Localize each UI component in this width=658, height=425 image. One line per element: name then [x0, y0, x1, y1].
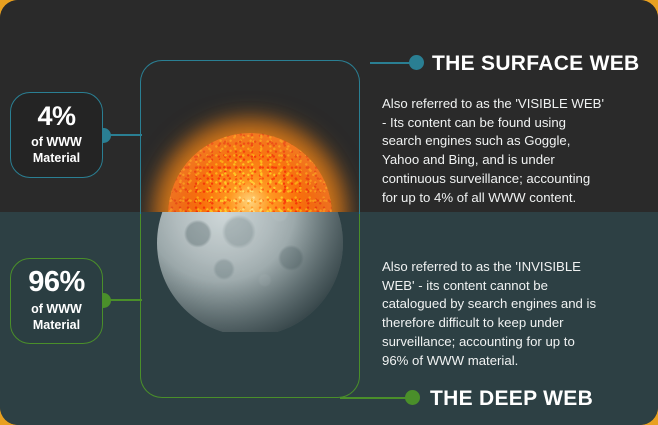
moon-shading	[157, 212, 343, 332]
deep-web-percentage-badge: 96% of WWW Material	[10, 258, 103, 344]
surface-web-heading: THE SURFACE WEB	[432, 52, 640, 76]
surface-badge-line2: Material	[33, 151, 80, 165]
surface-web-percentage-badge: 4% of WWW Material	[10, 92, 103, 178]
deep-web-heading: THE DEEP WEB	[430, 387, 593, 411]
deep-badge-connector-line	[110, 299, 142, 301]
surface-percentage-value: 4%	[37, 103, 75, 130]
surface-web-description: Also referred to as the 'VISIBLE WEB' - …	[382, 95, 604, 207]
sun-icon	[140, 60, 360, 212]
deep-web-description: Also referred to as the 'INVISIBLE WEB' …	[382, 258, 604, 370]
infographic-canvas: 4% of WWW Material 96% of WWW Material T…	[0, 0, 658, 425]
moon-icon	[140, 212, 360, 332]
deep-heading-connector-line	[340, 397, 410, 399]
deep-badge-line2: Material	[33, 318, 80, 332]
surface-badge-subtitle: of WWW Material	[31, 135, 82, 166]
deep-heading-connector-dot	[405, 390, 420, 405]
moon-sphere	[157, 212, 343, 332]
deep-badge-line1: of WWW	[31, 302, 82, 316]
deep-badge-subtitle: of WWW Material	[31, 302, 82, 333]
surface-badge-line1: of WWW	[31, 135, 82, 149]
surface-heading-connector-line	[370, 62, 412, 64]
surface-heading-connector-dot	[409, 55, 424, 70]
surface-badge-connector-line	[110, 134, 142, 136]
deep-percentage-value: 96%	[28, 268, 85, 297]
